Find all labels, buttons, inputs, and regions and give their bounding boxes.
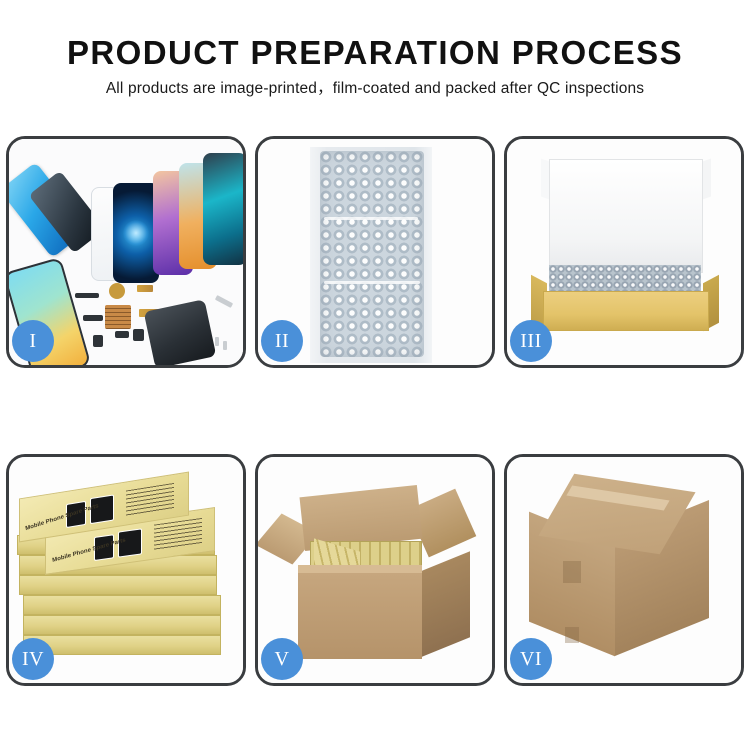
small-part-icon	[115, 331, 129, 338]
screw-icon	[215, 337, 219, 346]
button-part-icon	[93, 335, 103, 347]
step-panel-3[interactable]: III	[504, 136, 744, 368]
step-badge-3: III	[510, 320, 552, 362]
stacked-box-icon	[23, 595, 221, 615]
camera-part-icon	[133, 329, 144, 341]
page-title: PRODUCT PREPARATION PROCESS	[0, 34, 750, 72]
stacked-box-icon	[19, 575, 217, 595]
white-box-lid-icon	[549, 159, 703, 273]
carton-patch-icon	[563, 561, 581, 583]
bubble-wrapped-contents-icon	[549, 265, 701, 293]
carton-patch-2-icon	[565, 627, 579, 643]
copper-mesh-icon	[105, 305, 131, 329]
process-steps-grid: I II III	[6, 136, 744, 686]
step-badge-5: V	[261, 638, 303, 680]
flex-cable-icon	[137, 285, 153, 292]
step-panel-4[interactable]: Mobile Phone Spare Parts Mobile Phone Sp…	[6, 454, 246, 686]
carton-front-icon	[298, 573, 422, 659]
step-panel-6[interactable]: VI	[504, 454, 744, 686]
box-text-lines-icon	[154, 518, 202, 551]
bracket-part-icon	[83, 315, 103, 321]
step-badge-1: I	[12, 320, 54, 362]
carton-side-right-icon	[422, 551, 470, 656]
wrap-seam-icon	[324, 217, 418, 220]
kraft-box-front-icon	[543, 291, 709, 331]
step-badge-2: II	[261, 320, 303, 362]
teal-screen-icon	[203, 153, 243, 265]
box-text-lines-2-icon	[126, 483, 174, 517]
box-label-1: Mobile Phone Spare Parts	[25, 503, 99, 532]
box-label-2: Mobile Phone Spare Parts	[52, 538, 126, 564]
page-header: PRODUCT PREPARATION PROCESS All products…	[0, 0, 750, 100]
speaker-part-icon	[75, 293, 99, 298]
coil-part-icon	[109, 283, 125, 299]
step-badge-6: VI	[510, 638, 552, 680]
step-panel-5[interactable]: V	[255, 454, 495, 686]
stacked-box-icon	[23, 615, 221, 635]
screw-2-icon	[223, 341, 227, 350]
step-panel-2[interactable]: II	[255, 136, 495, 368]
wrap-seam-2-icon	[324, 281, 420, 284]
bubble-wrap-icon	[320, 151, 424, 357]
step-badge-4: IV	[12, 638, 54, 680]
back-housing-icon	[144, 299, 217, 365]
page-subtitle: All products are image-printed，film-coat…	[0, 78, 750, 100]
step-panel-1[interactable]: I	[6, 136, 246, 368]
